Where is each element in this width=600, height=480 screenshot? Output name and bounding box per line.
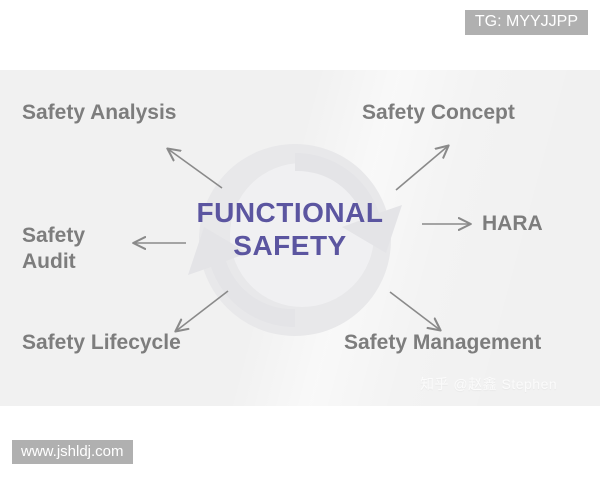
hub-title-line-2: SAFETY — [170, 229, 410, 262]
node-label-safety-analysis: Safety Analysis — [22, 100, 176, 126]
node-label-safety-lifecycle: Safety Lifecycle — [22, 330, 181, 356]
node-label-safety-management: Safety Management — [344, 330, 541, 356]
screenshot-canvas: FUNCTIONAL SAFETY Safety Analysis Safety… — [0, 0, 600, 480]
node-label-safety-concept: Safety Concept — [362, 100, 515, 126]
hub-title: FUNCTIONAL SAFETY — [170, 196, 410, 262]
node-label-safety-audit: Safety Audit — [22, 223, 122, 275]
hub-title-line-1: FUNCTIONAL — [197, 197, 384, 228]
node-label-safety-audit-line-1: Safety — [22, 224, 85, 247]
site-watermark: www.jshldj.com — [12, 440, 133, 464]
node-label-hara: HARA — [482, 211, 543, 237]
node-label-safety-audit-line-2: Audit — [22, 250, 76, 273]
tag-badge: TG: MYYJJPP — [465, 10, 588, 35]
author-watermark: 知乎 @赵鑫 Stephen — [420, 374, 557, 394]
